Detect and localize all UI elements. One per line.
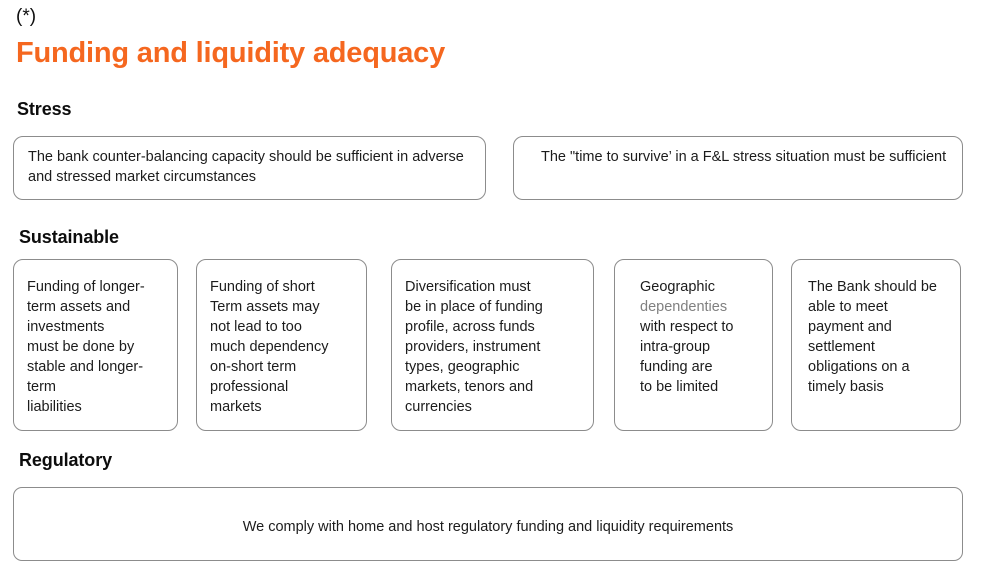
sustainable-card[interactable]: Funding of short Term assets may not lea… [196,259,367,431]
sustainable-card-text-before: Geographic [640,279,715,295]
regulatory-card[interactable]: We comply with home and host regulatory … [13,487,963,561]
regulatory-card-text: We comply with home and host regulatory … [14,517,962,537]
section-heading-sustainable: Sustainable [19,226,119,248]
section-heading-stress: Stress [17,98,71,120]
slide-canvas: (*) Funding and liquidity adequacy Stres… [0,0,998,561]
sustainable-card-text: Funding of short Term assets may not lea… [210,277,360,417]
stress-card[interactable]: The "time to survive’ in a F&L stress si… [513,136,963,200]
section-heading-regulatory: Regulatory [19,449,112,471]
stress-card[interactable]: The bank counter-balancing capacity shou… [13,136,486,200]
sustainable-card-text: Funding of longer- term assets and inves… [27,277,171,417]
spellcheck-flagged-word: dependenties [640,299,727,315]
sustainable-card[interactable]: Diversification must be in place of fund… [391,259,594,431]
page-title: Funding and liquidity adequacy [16,35,445,71]
sustainable-card[interactable]: The Bank should be able to meet payment … [791,259,961,431]
sustainable-card[interactable]: Geographic dependenties with respect to … [614,259,773,431]
sustainable-card-text: Geographic dependenties with respect to … [640,277,766,397]
stress-card-text: The bank counter-balancing capacity shou… [28,147,475,187]
sustainable-card-text: The Bank should be able to meet payment … [808,277,954,397]
footnote-marker: (*) [16,6,36,28]
sustainable-card[interactable]: Funding of longer- term assets and inves… [13,259,178,431]
sustainable-card-text: Diversification must be in place of fund… [405,277,587,417]
stress-card-text: The "time to survive’ in a F&L stress si… [541,147,952,167]
sustainable-card-text-after: with respect to intra-group funding are … [640,319,734,395]
